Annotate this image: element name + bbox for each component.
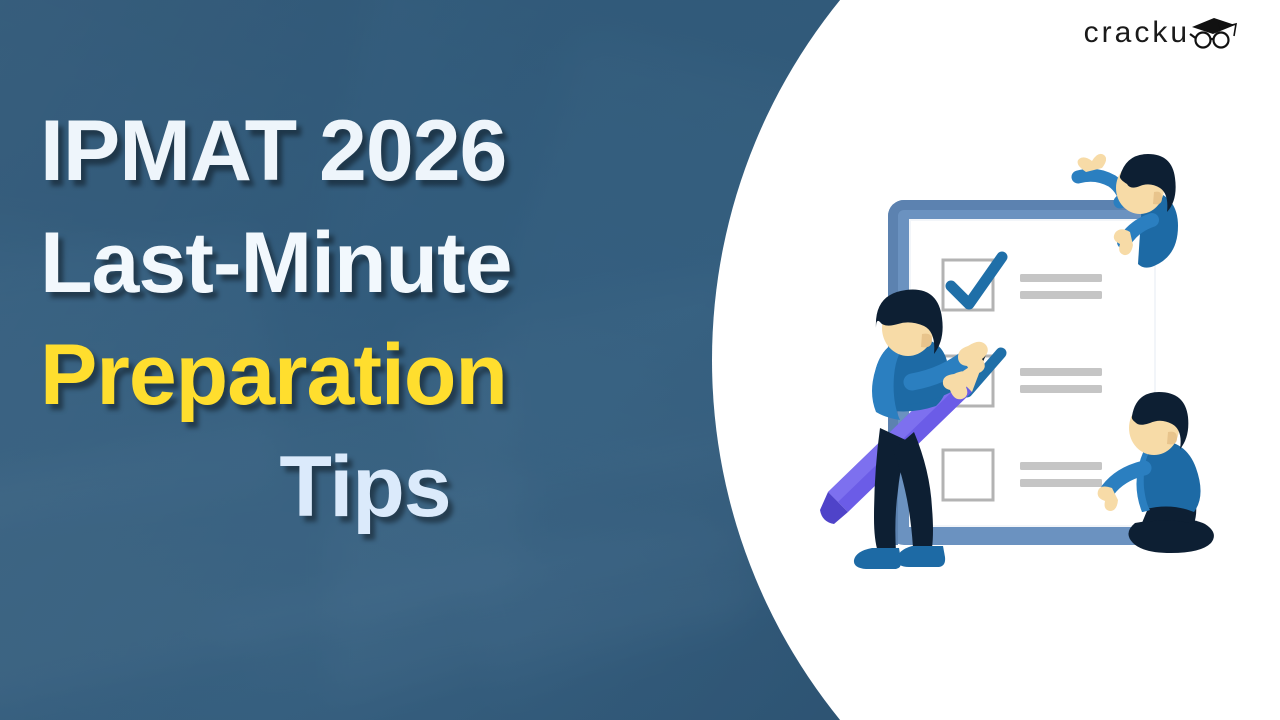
headline-line-4: Tips <box>40 444 690 530</box>
brand-logo-text: cracku <box>1084 16 1190 50</box>
thumbnail-canvas: cracku IPMAT 2026 Last-Minute Preparatio… <box>0 0 1280 720</box>
headline-line-2: Last-Minute <box>40 220 690 306</box>
illustration-svg <box>820 150 1250 580</box>
checklist-teamwork-illustration <box>820 150 1250 580</box>
brand-logo: cracku <box>1084 14 1238 52</box>
headline-block: IPMAT 2026 Last-Minute Preparation Tips <box>40 108 690 530</box>
graduation-cap-glasses-icon <box>1188 14 1238 52</box>
headline-line-3-highlight: Preparation <box>40 332 690 418</box>
headline-line-1: IPMAT 2026 <box>40 108 690 194</box>
